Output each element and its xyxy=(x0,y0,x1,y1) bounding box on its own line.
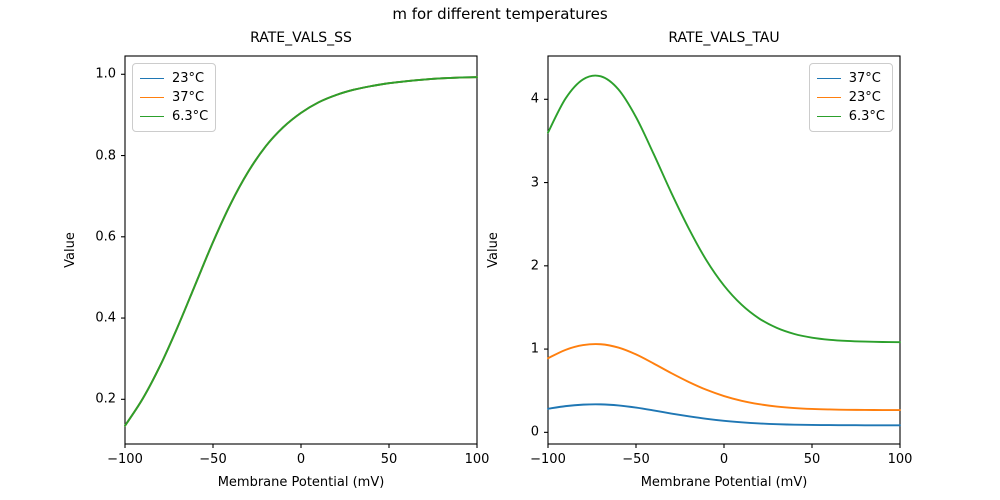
y-axis-label-rate-vals-tau: Value xyxy=(486,232,501,268)
legend-entry: 37°C xyxy=(817,69,885,88)
x-axis-label-rate-vals-tau: Membrane Potential (mV) xyxy=(548,475,900,490)
legend-label: 37°C xyxy=(849,69,881,88)
legend-entry: 23°C xyxy=(817,88,885,107)
legend-rate-vals-tau[interactable]: 37°C23°C6.3°C xyxy=(809,63,893,132)
x-tick-label: −50 xyxy=(622,452,649,467)
line-series-37C xyxy=(548,404,900,425)
y-tick-label: 2 xyxy=(0,258,539,273)
legend-line-icon xyxy=(817,78,841,79)
y-tick-label: 1 xyxy=(0,342,539,357)
line-series-23C xyxy=(548,344,900,410)
legend-label: 23°C xyxy=(849,88,881,107)
x-tick-label: −100 xyxy=(530,452,566,467)
y-tick-label: 3 xyxy=(0,175,539,190)
y-tick-label: 0 xyxy=(0,425,539,440)
legend-line-icon xyxy=(817,116,841,117)
x-tick-label: 0 xyxy=(720,452,728,467)
x-tick-label: 100 xyxy=(888,452,913,467)
matplotlib-figure: m for different temperatures RATE_VALS_S… xyxy=(0,0,1000,500)
y-tick-label: 4 xyxy=(0,92,539,107)
legend-line-icon xyxy=(817,97,841,98)
x-tick-label: 50 xyxy=(804,452,821,467)
legend-label: 6.3°C xyxy=(849,107,885,126)
legend-entry: 6.3°C xyxy=(817,107,885,126)
